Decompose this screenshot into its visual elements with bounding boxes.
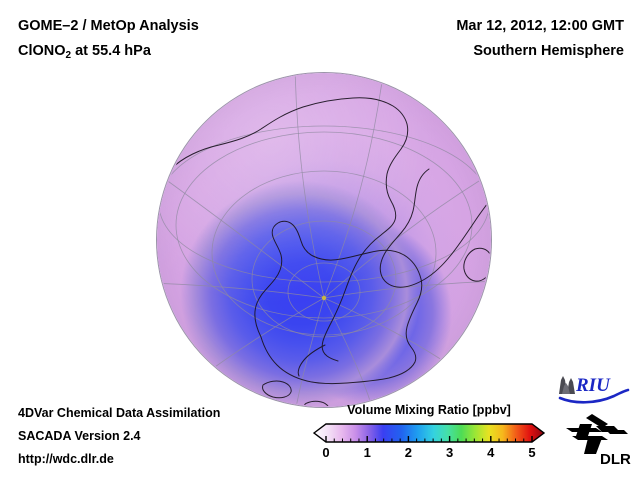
species-title: ClONO2 at 55.4 hPa bbox=[18, 39, 348, 65]
riu-logo: RIU bbox=[556, 372, 634, 404]
colorbar-tick-labels: 012345 bbox=[313, 445, 545, 463]
dlr-logo: DLR bbox=[562, 412, 636, 470]
colorbar-title: Volume Mixing Ratio [ppbv] bbox=[313, 403, 545, 417]
header-left-block: GOME–2 / MetOp Analysis ClONO2 at 55.4 h… bbox=[18, 14, 348, 65]
riu-wordmark: RIU bbox=[575, 375, 611, 396]
region-label: Southern Hemisphere bbox=[324, 39, 624, 64]
south-pole-marker bbox=[322, 296, 326, 300]
colorbar-tick-label: 1 bbox=[364, 445, 371, 460]
credit-method: 4DVar Chemical Data Assimilation bbox=[18, 402, 220, 425]
colorbar-tick-label: 0 bbox=[322, 445, 329, 460]
valid-datetime: Mar 12, 2012, 12:00 GMT bbox=[324, 14, 624, 39]
globe-overlay bbox=[157, 73, 491, 407]
species-subscript: 2 bbox=[66, 50, 72, 61]
header-right-block: Mar 12, 2012, 12:00 GMT Southern Hemisph… bbox=[324, 14, 624, 64]
species-level: at 55.4 hPa bbox=[71, 43, 151, 59]
dlr-mark-icon bbox=[566, 414, 628, 454]
colorbar: Volume Mixing Ratio [ppbv] 012345 bbox=[313, 403, 545, 463]
globe-map bbox=[157, 73, 491, 407]
colorbar-tick-label: 3 bbox=[446, 445, 453, 460]
species-name: ClONO bbox=[18, 43, 66, 59]
riu-tower-icon bbox=[559, 376, 575, 394]
colorbar-tick-label: 5 bbox=[528, 445, 535, 460]
credits-block: 4DVar Chemical Data Assimilation SACADA … bbox=[18, 402, 220, 471]
colorbar-tick-label: 2 bbox=[405, 445, 412, 460]
graticule-latitudes bbox=[159, 126, 489, 337]
coastline-madagascar bbox=[464, 248, 491, 281]
credit-url[interactable]: http://wdc.dlr.de bbox=[18, 448, 220, 471]
coastline-new-zealand bbox=[263, 381, 292, 398]
colorbar-body bbox=[313, 422, 545, 444]
instrument-title: GOME–2 / MetOp Analysis bbox=[18, 14, 348, 39]
dlr-wordmark: DLR bbox=[600, 451, 631, 468]
credit-version: SACADA Version 2.4 bbox=[18, 425, 220, 448]
coastline-antarctica bbox=[255, 221, 422, 383]
colorbar-tick-label: 4 bbox=[487, 445, 494, 460]
colorbar-gradient bbox=[313, 422, 545, 444]
graticule-meridians bbox=[157, 73, 491, 407]
